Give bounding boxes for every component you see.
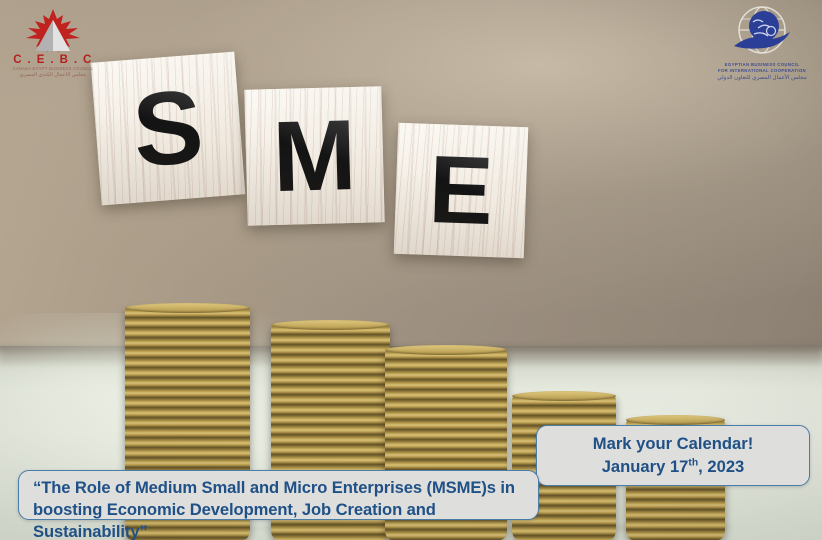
wooden-block-s: S	[91, 52, 246, 206]
session-title-line1: “The Role of Medium Small and Micro Ente…	[33, 477, 526, 499]
globe-hand-icon	[710, 4, 814, 62]
calendar-date-prefix: January 17	[602, 457, 689, 476]
calendar-date-suffix: , 2023	[698, 457, 744, 476]
event-announcement-poster: S M E C . E . B . C CANADA EGYPT BUSINES…	[0, 0, 822, 540]
cebc-logo: C . E . B . C CANADA EGYPT BUSINESS COUN…	[8, 6, 98, 80]
wooden-block-s-letter: S	[129, 74, 206, 183]
wooden-block-m-letter: M	[272, 105, 358, 207]
wooden-block-m: M	[244, 86, 385, 226]
wooden-block-e-letter: E	[427, 141, 494, 239]
ebc-logo: EGYPTIAN BUSINESS COUNCIL FOR INTERNATIO…	[710, 4, 814, 83]
wooden-block-e: E	[394, 123, 528, 258]
maple-leaf-pyramid-icon	[8, 6, 98, 56]
session-title-callout: “The Role of Medium Small and Micro Ente…	[18, 470, 539, 520]
calendar-date: January 17th, 2023	[602, 456, 745, 478]
cebc-subtitle-ar: مجلس الأعمال الكندي المصري	[8, 72, 98, 80]
ebc-line-arabic: مجلس الأعمال المصري للتعاون الدولي	[710, 74, 814, 82]
mark-your-calendar-callout: Mark your Calendar! January 17th, 2023	[536, 425, 810, 486]
session-title-line2: boosting Economic Development, Job Creat…	[33, 499, 526, 540]
calendar-date-ordinal: th	[688, 457, 698, 468]
calendar-headline: Mark your Calendar!	[593, 433, 753, 455]
